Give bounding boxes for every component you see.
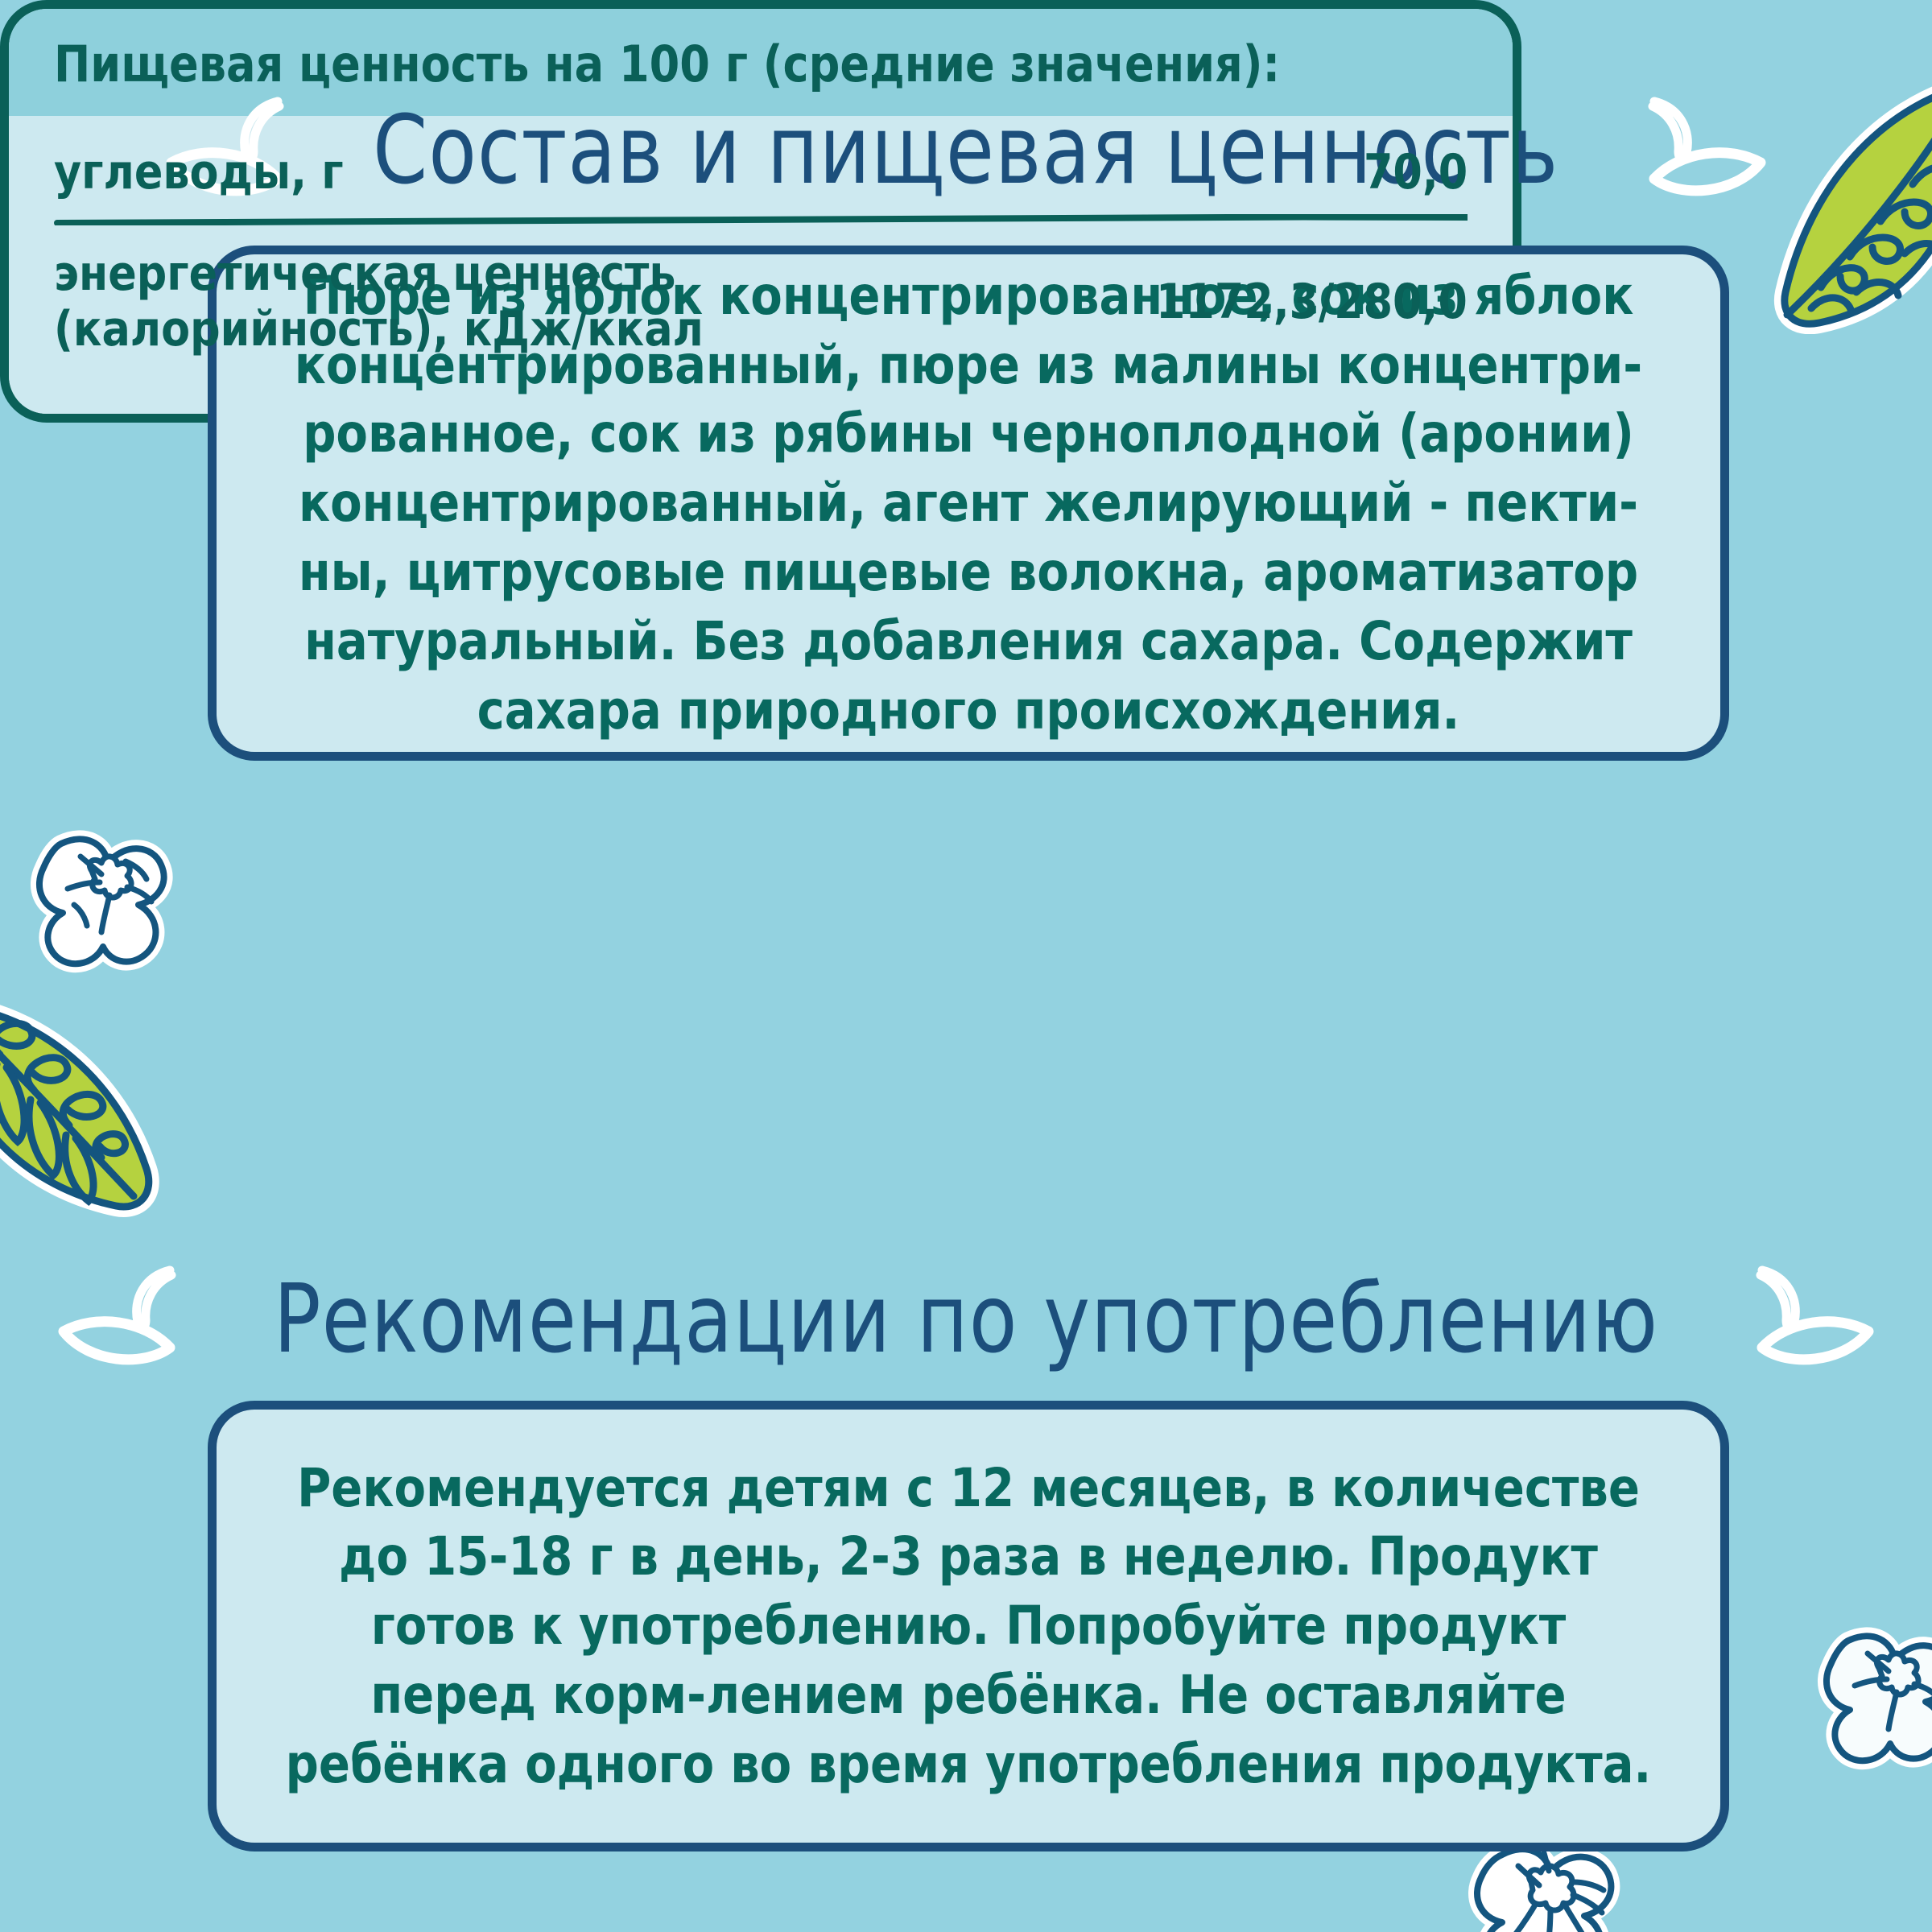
sprig-icon — [49, 1264, 186, 1373]
nutrition-table-header-text: Пищевая ценность на 100 г (средние значе… — [54, 38, 1425, 90]
nutrition-row-label: углеводы, г — [54, 145, 344, 200]
sprig-icon — [1638, 95, 1775, 204]
recommendations-text: Рекомендуется детям с 12 месяцев, в коли… — [283, 1454, 1653, 1799]
row-divider — [54, 214, 1468, 225]
nutrition-row-label: энергетическая ценность (калорийность), … — [54, 246, 704, 357]
nutrition-row-value: 1172,3/280,0 — [1156, 275, 1468, 329]
sprig-icon — [1746, 1264, 1883, 1373]
flower-icon — [24, 821, 185, 982]
leaf-icon — [0, 990, 169, 1232]
recommendations-heading-text: Рекомендации по употреблению — [274, 1271, 1658, 1366]
nutrition-row-value: 70,0 — [1364, 145, 1468, 200]
recommendations-heading: Рекомендации по употреблению — [0, 1264, 1932, 1373]
recommendations-card: Рекомендуется детям с 12 месяцев, в коли… — [208, 1401, 1729, 1851]
flower-icon — [1811, 1618, 1932, 1779]
